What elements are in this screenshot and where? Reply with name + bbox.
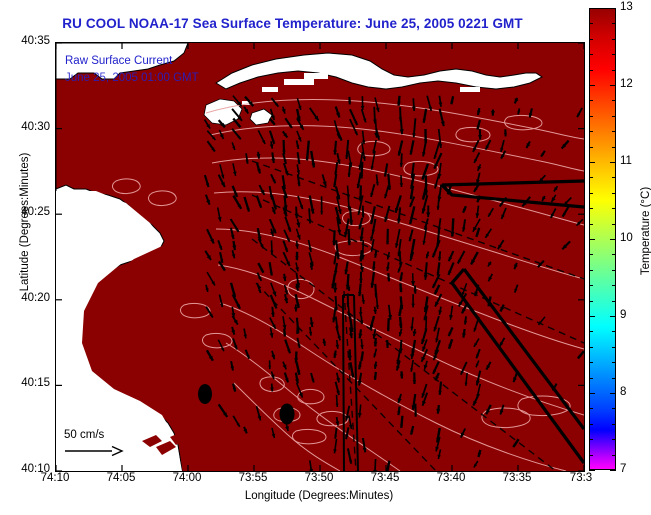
- colorbar-minor-tick: [612, 54, 616, 55]
- colorbar-minor-tick: [589, 408, 593, 409]
- colorbar-major-tick: [589, 316, 595, 317]
- colorbar-minor-tick: [612, 270, 616, 271]
- colorbar-minor-tick: [589, 347, 593, 348]
- colorbar-major-tick: [610, 316, 616, 317]
- colorbar-minor-tick: [612, 362, 616, 363]
- y-tick-4015: 40:15: [2, 377, 50, 389]
- x-tick-7345: 73:45: [371, 472, 400, 484]
- colorbar-tick-label-10: 10: [620, 232, 633, 244]
- colorbar-minor-tick: [589, 147, 593, 148]
- x-axis-tick-labels: 74:10 74:05 74:00 73:55 73:50 73:45 73:4…: [55, 472, 615, 490]
- colorbar-minor-tick: [589, 455, 593, 456]
- colorbar-minor-tick: [612, 23, 616, 24]
- colorbar-minor-tick: [589, 131, 593, 132]
- colorbar-minor-tick: [589, 378, 593, 379]
- colorbar-minor-tick: [589, 301, 593, 302]
- colorbar-minor-tick: [589, 439, 593, 440]
- colorbar-minor-tick: [589, 362, 593, 363]
- colorbar-tick-label-11: 11: [620, 155, 632, 167]
- colorbar-minor-tick: [589, 270, 593, 271]
- map-canvas: [56, 43, 584, 471]
- colorbar-minor-tick: [612, 439, 616, 440]
- colorbar-minor-tick: [589, 23, 593, 24]
- colorbar-minor-tick: [589, 424, 593, 425]
- page-title: RU COOL NOAA-17 Sea Surface Temperature:…: [0, 16, 585, 31]
- colorbar-minor-tick: [589, 254, 593, 255]
- colorbar-minor-tick: [589, 116, 593, 117]
- colorbar-major-tick: [610, 470, 616, 471]
- colorbar-major-tick: [610, 8, 616, 9]
- colorbar-minor-tick: [612, 147, 616, 148]
- colorbar-major-tick: [589, 393, 595, 394]
- colorbar-major-tick: [589, 239, 595, 240]
- colorbar-tick-label-13: 13: [620, 1, 633, 13]
- colorbar-minor-tick: [612, 378, 616, 379]
- x-tick-7340: 73:40: [437, 472, 466, 484]
- y-tick-4035: 40:35: [2, 35, 50, 47]
- scale-bar: 50 cm/s: [64, 429, 124, 457]
- sst-map-figure: RU COOL NOAA-17 Sea Surface Temperature:…: [0, 0, 651, 515]
- colorbar-minor-tick: [612, 285, 616, 286]
- colorbar-minor-tick: [612, 224, 616, 225]
- x-tick-7355: 73:55: [239, 472, 268, 484]
- colorbar-major-tick: [610, 162, 616, 163]
- colorbar-tick-label-8: 8: [620, 386, 626, 398]
- x-axis-title: Longitude (Degrees:Minutes): [55, 490, 583, 502]
- colorbar-tick-label-9: 9: [620, 309, 626, 321]
- x-tick-7335: 73:35: [503, 472, 532, 484]
- station-marker-1: [198, 384, 212, 404]
- colorbar-minor-tick: [589, 100, 593, 101]
- colorbar-major-tick: [589, 8, 595, 9]
- colorbar-minor-tick: [612, 116, 616, 117]
- colorbar-minor-tick: [612, 254, 616, 255]
- map-plot-area: Raw Surface Current June 25, 2005 01:00 …: [55, 42, 585, 472]
- x-tick-7330: 73:3: [570, 472, 592, 484]
- colorbar-title: Temperature (°C): [640, 121, 651, 341]
- colorbar-major-tick: [610, 239, 616, 240]
- colorbar-minor-tick: [589, 177, 593, 178]
- x-tick-7410: 74:10: [41, 472, 70, 484]
- scale-bar-label: 50 cm/s: [64, 429, 104, 441]
- colorbar-tick-label-7: 7: [620, 463, 626, 475]
- right-arrow-icon: [64, 445, 124, 457]
- colorbar-minor-tick: [589, 39, 593, 40]
- colorbar-minor-tick: [612, 424, 616, 425]
- station-marker-2: [280, 404, 295, 425]
- colorbar-minor-tick: [612, 331, 616, 332]
- colorbar-minor-tick: [612, 193, 616, 194]
- colorbar-minor-tick: [612, 131, 616, 132]
- colorbar-major-tick: [610, 393, 616, 394]
- colorbar-minor-tick: [589, 208, 593, 209]
- colorbar-minor-tick: [612, 408, 616, 409]
- colorbar-major-tick: [589, 470, 595, 471]
- x-tick-7400: 74:00: [173, 472, 202, 484]
- colorbar-minor-tick: [612, 70, 616, 71]
- colorbar-minor-tick: [612, 100, 616, 101]
- colorbar-tick-label-12: 12: [620, 78, 633, 90]
- colorbar-minor-tick: [612, 347, 616, 348]
- colorbar-minor-tick: [589, 285, 593, 286]
- colorbar-minor-tick: [589, 193, 593, 194]
- colorbar-minor-tick: [589, 54, 593, 55]
- colorbar-minor-tick: [612, 455, 616, 456]
- x-tick-7405: 74:05: [107, 472, 136, 484]
- colorbar-minor-tick: [612, 177, 616, 178]
- colorbar-major-tick: [589, 162, 595, 163]
- y-axis-title: Latitude (Degrees:Minutes): [19, 112, 31, 332]
- colorbar: 13121110987: [589, 8, 616, 470]
- colorbar-minor-tick: [589, 70, 593, 71]
- x-tick-7350: 73:50: [305, 472, 334, 484]
- colorbar-minor-tick: [612, 39, 616, 40]
- colorbar-minor-tick: [612, 208, 616, 209]
- colorbar-minor-tick: [589, 224, 593, 225]
- colorbar-minor-tick: [589, 331, 593, 332]
- colorbar-major-tick: [610, 85, 616, 86]
- colorbar-minor-tick: [612, 301, 616, 302]
- colorbar-major-tick: [589, 85, 595, 86]
